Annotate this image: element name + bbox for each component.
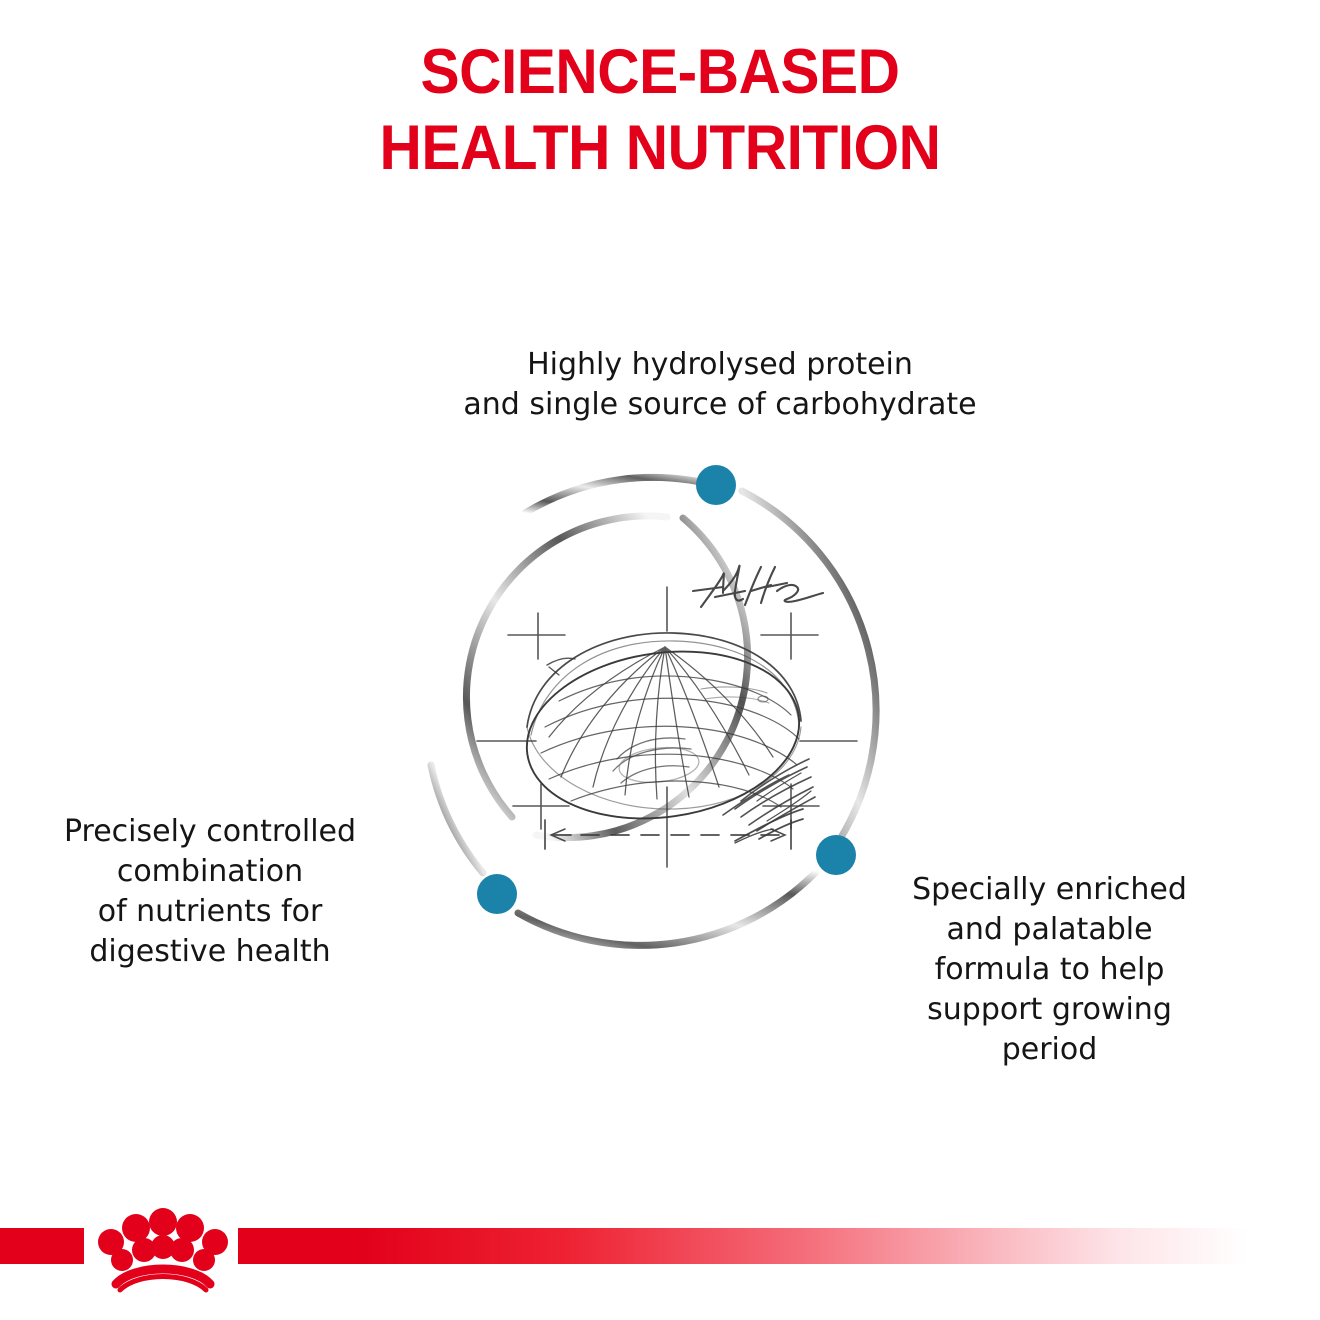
- crown-base-arcs: [116, 1269, 210, 1290]
- crown-pearls: [98, 1208, 228, 1271]
- outer-arc-lower-left: [431, 765, 483, 873]
- caption-left-line-4: digestive health: [10, 932, 410, 972]
- kibble-outline: [516, 633, 810, 835]
- outer-arc-bottom: [518, 871, 817, 945]
- marker-top: [696, 465, 736, 505]
- caption-precisely-controlled-nutrients: Precisely controlled combination of nutr…: [10, 812, 410, 972]
- handwritten-annotation: [693, 566, 823, 607]
- caption-right-line-4: support growing: [872, 990, 1227, 1030]
- infographic-page: SCIENCE-BASED HEALTH NUTRITION Highly hy…: [0, 0, 1320, 1320]
- title-line-2: HEALTH NUTRITION: [46, 110, 1274, 186]
- royal-canin-crown-logo: [86, 1202, 240, 1294]
- footer-bar-right-segment: [238, 1228, 1320, 1264]
- kibble-meridians: [549, 647, 773, 799]
- marker-right: [816, 835, 856, 875]
- kibble-core-shading: [613, 738, 701, 786]
- kibble-orbit-diagram: [405, 435, 930, 960]
- caption-left-line-2: combination: [10, 852, 410, 892]
- marker-bottom-left: [477, 874, 517, 914]
- caption-left-line-3: of nutrients for: [10, 892, 410, 932]
- caption-highly-hydrolysed-protein: Highly hydrolysed protein and single sou…: [380, 345, 1060, 425]
- footer-bar-left-segment: [0, 1228, 84, 1264]
- footer-brand-bar: [0, 1228, 1320, 1264]
- caption-left-line-1: Precisely controlled: [10, 812, 410, 852]
- caption-top-line-1: Highly hydrolysed protein: [380, 345, 1060, 385]
- caption-top-line-2: and single source of carbohydrate: [380, 385, 1060, 425]
- crosshair-marks: [477, 587, 857, 867]
- title-line-1: SCIENCE-BASED: [46, 34, 1274, 110]
- outer-arc-upper: [525, 477, 721, 513]
- page-title: SCIENCE-BASED HEALTH NUTRITION: [0, 34, 1320, 186]
- caption-right-line-5: period: [872, 1030, 1227, 1070]
- kibble-sketch: [477, 566, 857, 867]
